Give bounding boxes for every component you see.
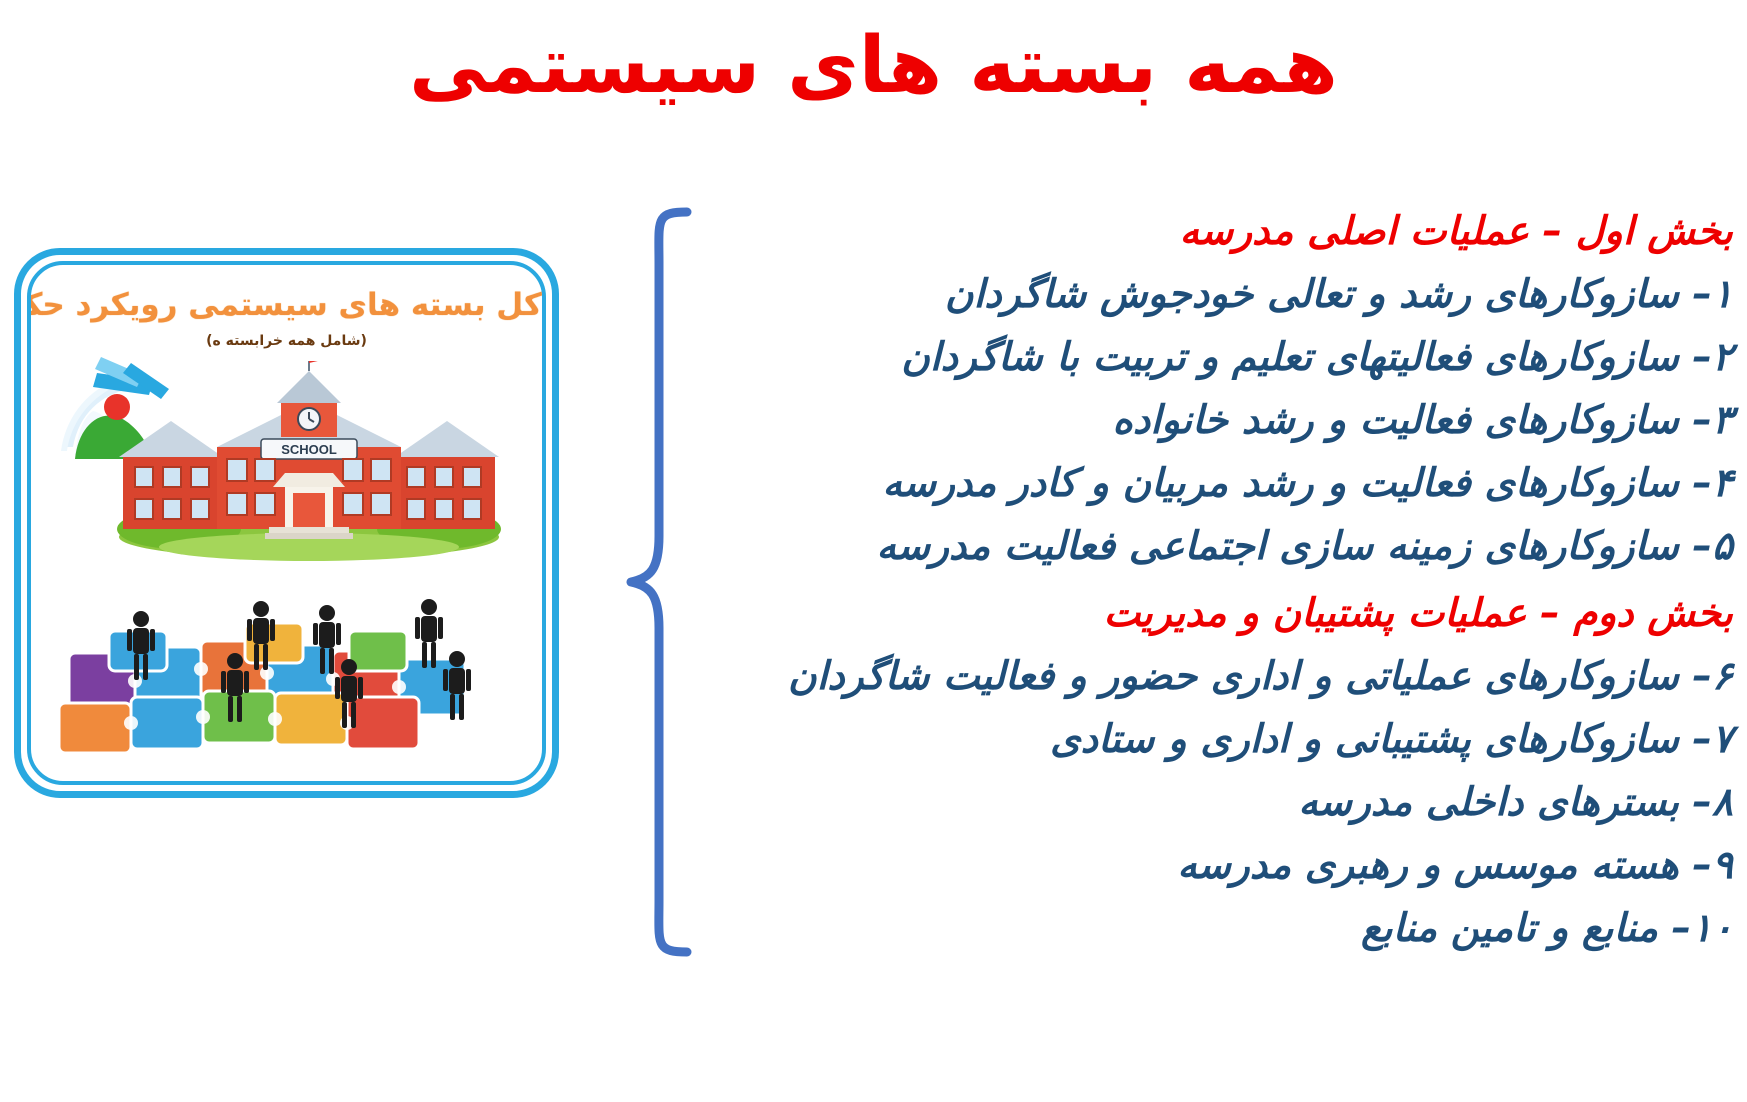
list-item: ۶– سازوکارهای عملیاتی و اداری حضور و فعا… [703,645,1733,708]
list-item: ۹– هسته موسس و رهبری مدرسه [703,834,1733,897]
list-item: ۱– سازوکارهای رشد و تعالی خودجوش شاگردان [703,263,1733,326]
cover-image-card: کل بسته های سیستمی رویکرد حکمت (شامل همه… [14,248,559,798]
school-building-illustration: SCHOOL [109,361,509,561]
list-item: ۲– سازوکارهای فعالیتهای تعلیم و تربیت با… [703,326,1733,389]
section-heading-1: بخش اول – عملیات اصلی مدرسه [703,200,1733,263]
card-headline: کل بسته های سیستمی رویکرد حکمت [31,287,542,323]
list-item: ۵– سازوکارهای زمینه سازی اجتماعی فعالیت … [703,515,1733,578]
list-item: ۳– سازوکارهای فعالیت و رشد خانواده [703,389,1733,452]
card-subline: (شامل همه خرابسته ه) [31,333,542,349]
list-item: ۸– بسترهای داخلی مدرسه [703,771,1733,834]
curly-brace [625,206,695,958]
list-item: ۱۰– منابع و تامین منابع [703,897,1733,960]
card-inner-border: کل بسته های سیستمی رویکرد حکمت (شامل همه… [27,261,546,785]
people-on-puzzle-illustration [49,535,529,765]
list-item: ۷– سازوکارهای پشتیبانی و اداری و ستادی [703,708,1733,771]
package-list: بخش اول – عملیات اصلی مدرسه ۱– سازوکارها… [703,200,1733,960]
school-sign-label: SCHOOL [281,442,337,457]
list-item: ۴– سازوکارهای فعالیت و رشد مربیان و کادر… [703,452,1733,515]
page-title: همه بسته های سیستمی [0,22,1747,112]
slide-canvas: همه بسته های سیستمی کل بسته های سیستمی ر… [0,0,1747,1102]
section-heading-2: بخش دوم – عملیات پشتیبان و مدیریت [703,582,1733,645]
